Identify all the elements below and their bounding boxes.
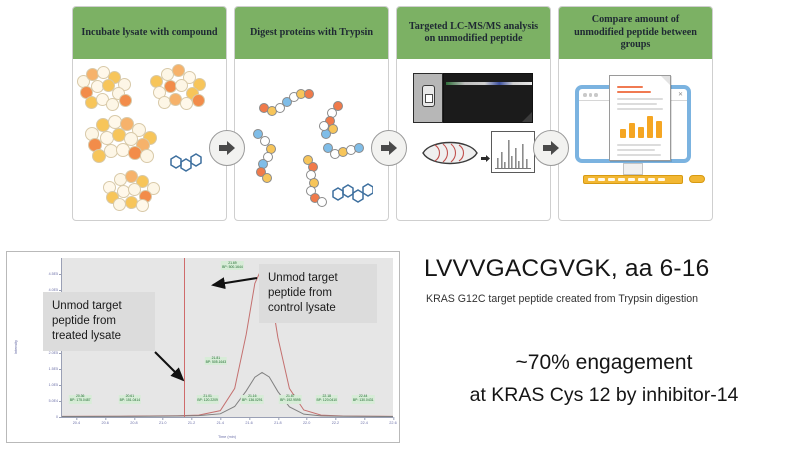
workflow-step-2-graphic (235, 59, 388, 220)
workflow-step-3-label: Targeted LC-MS/MS analysis on unmodified… (405, 21, 542, 46)
workflow-step-1[interactable]: Incubate lysate with compound (72, 6, 227, 221)
workflow-arrow-2 (371, 130, 407, 166)
monitor-report-icon: ✕ (571, 71, 699, 206)
workflow-step-1-graphic (73, 59, 226, 220)
x-axis-tick: 22.6 (389, 417, 396, 425)
peak-label: 21.69BP: 500.1644 (221, 261, 244, 270)
peak-label: 22.44BP: 130.0431 (352, 395, 375, 404)
peak-label: 21.87BP: 192.9595 (279, 395, 302, 404)
workflow-step-1-header: Incubate lysate with compound (73, 7, 226, 59)
peptide-chain-icon (319, 101, 355, 145)
workflow-step-3-graphic (397, 59, 550, 220)
chromatogram-chart[interactable]: 05.0E41.0E51.5E52.0E52.5E53.0E53.5E54.0E… (6, 251, 400, 443)
x-axis-tick: 21.4 (217, 417, 224, 425)
page-fold-icon (661, 76, 670, 85)
peak-label: 20.61BP: 151.0414 (119, 395, 142, 404)
arrow-right-icon (542, 140, 560, 156)
x-axis-tick: 20.8 (130, 417, 137, 425)
x-axis-tick: 21.6 (245, 417, 252, 425)
y-axis-tick: 0 (56, 415, 62, 419)
callout-treated-lysate: Unmod target peptide from treated lysate (43, 292, 155, 351)
results-section: 05.0E41.0E51.5E52.0E52.5E53.0E53.5E54.0E… (0, 243, 800, 453)
workflow-step-2-label: Digest proteins with Trypsin (250, 27, 373, 40)
monitor-stand (623, 163, 643, 175)
window-dots-icon (583, 93, 598, 97)
arrow-right-icon (218, 140, 236, 156)
y-axis-tick: 5.0E4 (49, 399, 62, 403)
mouse-icon (689, 175, 705, 183)
report-bar-chart-icon (620, 114, 664, 138)
x-axis-tick: 22.4 (361, 417, 368, 425)
peak-label: 21.01BP: 120.2209 (196, 395, 219, 404)
y-axis-tick: 2.0E5 (49, 351, 62, 355)
y-axis-tick: 1.5E5 (49, 367, 62, 371)
trace-treated-lysate (62, 372, 393, 416)
peptide-chain-icon (259, 87, 315, 117)
protein-cluster-icon (83, 113, 167, 169)
cursor-marker-line (184, 258, 185, 417)
workflow-step-3[interactable]: Targeted LC-MS/MS analysis on unmodified… (396, 6, 551, 221)
small-molecule-compound-icon (329, 181, 373, 207)
x-axis-tick: 22.0 (303, 417, 310, 425)
engagement-detail: at KRAS Cys 12 by inhibitor-14 (418, 384, 790, 407)
workflow-step-2-header: Digest proteins with Trypsin (235, 7, 388, 59)
workflow-step-1-label: Incubate lysate with compound (81, 27, 217, 40)
workflow-step-4-label: Compare amount of unmodified peptide bet… (567, 14, 704, 52)
peptide-chain-icon (253, 129, 293, 183)
mass-spectrometer-icon (413, 73, 533, 123)
protein-cluster-icon (101, 169, 171, 215)
protein-cluster-icon (149, 63, 211, 113)
engagement-headline: ~70% engagement (418, 351, 790, 375)
arrow-right-icon (380, 140, 398, 156)
workflow-step-4[interactable]: Compare amount of unmodified peptide bet… (558, 6, 713, 221)
result-text-block: LVVVGACGVGK, aa 6-16 KRAS G12C target pe… (418, 243, 796, 453)
workflow-step-4-header: Compare amount of unmodified peptide bet… (559, 7, 712, 59)
y-axis-tick: 1.0E5 (49, 383, 62, 387)
callout-control-lysate: Unmod target peptide from control lysate (259, 264, 377, 323)
keyboard-icon (583, 175, 683, 184)
mass-spectrum-icon (491, 131, 535, 173)
x-axis-tick: 21.2 (188, 417, 195, 425)
x-axis-tick: 21.8 (274, 417, 281, 425)
x-axis-tick: 20.4 (73, 417, 80, 425)
report-document (609, 75, 671, 161)
peptide-chain-icon (297, 155, 333, 207)
close-icon: ✕ (678, 92, 683, 99)
workflow-arrow-1 (209, 130, 245, 166)
workflow-step-3-header: Targeted LC-MS/MS analysis on unmodified… (397, 7, 550, 59)
peptide-sequence: LVVVGACGVGK, aa 6-16 (424, 255, 709, 283)
chart-xlabel: Time (min) (61, 435, 393, 439)
chart-ylabel: Intensity (14, 340, 18, 354)
arrow-right-icon (481, 149, 490, 156)
small-molecule-compound-icon (165, 151, 205, 175)
x-axis-tick: 20.6 (101, 417, 108, 425)
workflow-diagram: Incubate lysate with compound (0, 0, 800, 235)
peak-label: 20.36BP: 175.0487 (69, 395, 92, 404)
x-axis-tick: 21.0 (159, 417, 166, 425)
workflow-step-4-graphic: ✕ (559, 59, 712, 220)
workflow-step-2[interactable]: Digest proteins with Trypsin (234, 6, 389, 221)
workflow-arrow-3 (533, 130, 569, 166)
protein-cluster-icon (75, 65, 137, 115)
x-axis-tick: 22.2 (332, 417, 339, 425)
protein-gel-icon (421, 137, 479, 169)
y-axis-tick: 4.5E5 (49, 272, 62, 276)
peak-label: 22.18BP: 120.0410 (316, 395, 339, 404)
peptide-caption: KRAS G12C target peptide created from Tr… (426, 293, 698, 305)
peak-label: 21.16BP: 136.0291 (241, 395, 264, 404)
peak-label: 21.81BP: 505.1643 (205, 357, 228, 366)
